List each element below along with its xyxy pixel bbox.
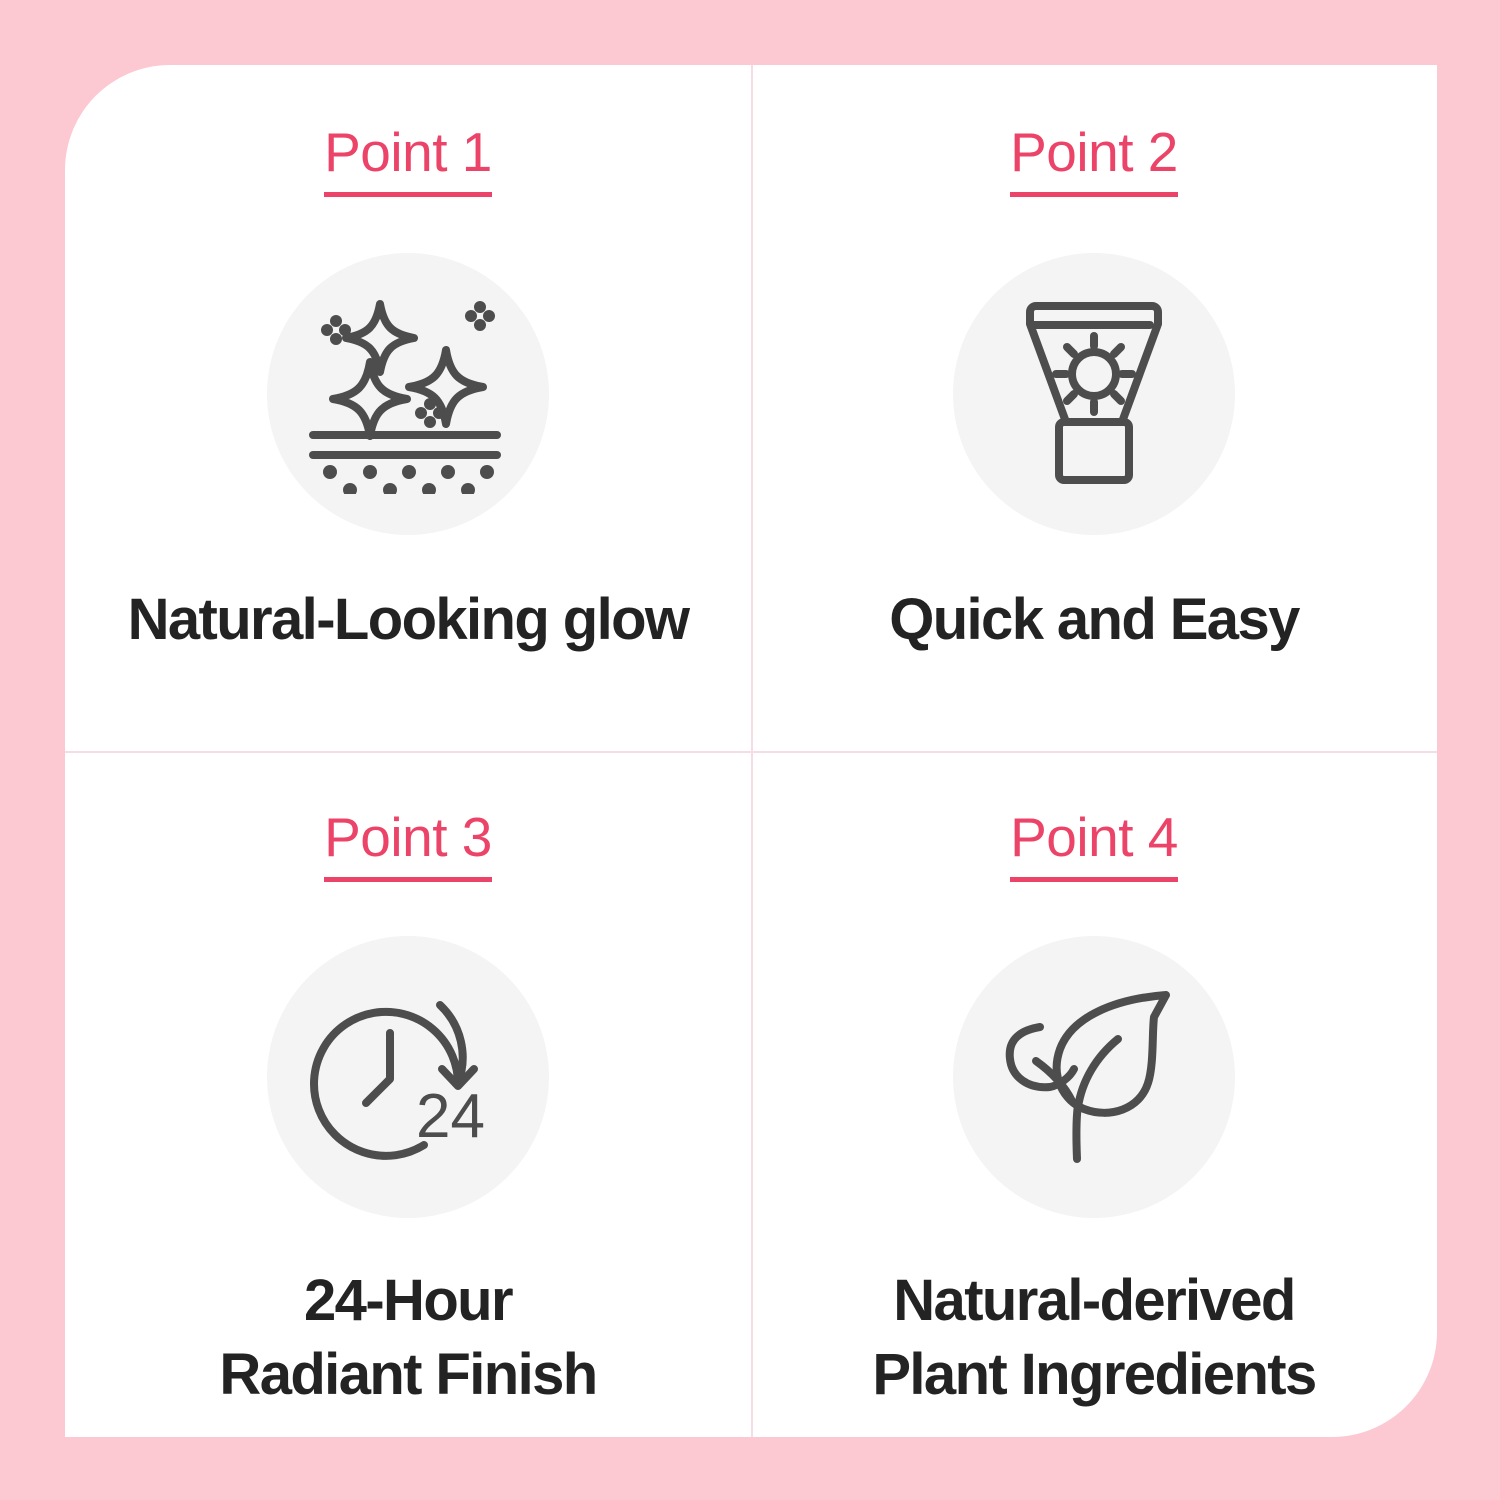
benefit-heading-2: Quick and Easy xyxy=(889,583,1299,657)
point-label-3: Point 3 xyxy=(324,809,492,882)
point-label-4: Point 4 xyxy=(1010,809,1178,882)
benefit-cell-4: Point 4 Natural-derived Plant Ingredient… xyxy=(751,751,1437,1437)
plant-leaf-icon xyxy=(953,936,1235,1218)
svg-text:24: 24 xyxy=(416,1082,485,1151)
sparkle-skin-icon xyxy=(267,253,549,535)
clock-24-hour-icon: 24 xyxy=(267,936,549,1218)
benefit-heading-4: Natural-derived Plant Ingredients xyxy=(872,1264,1315,1412)
benefit-cell-3: Point 3 24 24-Hour Radiant Finish xyxy=(65,751,751,1437)
product-benefits-infographic: Point 1 xyxy=(0,0,1500,1500)
benefit-heading-1: Natural-Looking glow xyxy=(128,583,689,657)
benefit-heading-3: 24-Hour Radiant Finish xyxy=(219,1264,596,1412)
benefits-card: Point 1 xyxy=(65,65,1437,1437)
benefit-cell-1: Point 1 xyxy=(65,65,751,751)
point-label-1: Point 1 xyxy=(324,124,492,197)
sunscreen-tube-icon xyxy=(953,253,1235,535)
benefit-cell-2: Point 2 xyxy=(751,65,1437,751)
point-label-2: Point 2 xyxy=(1010,124,1178,197)
